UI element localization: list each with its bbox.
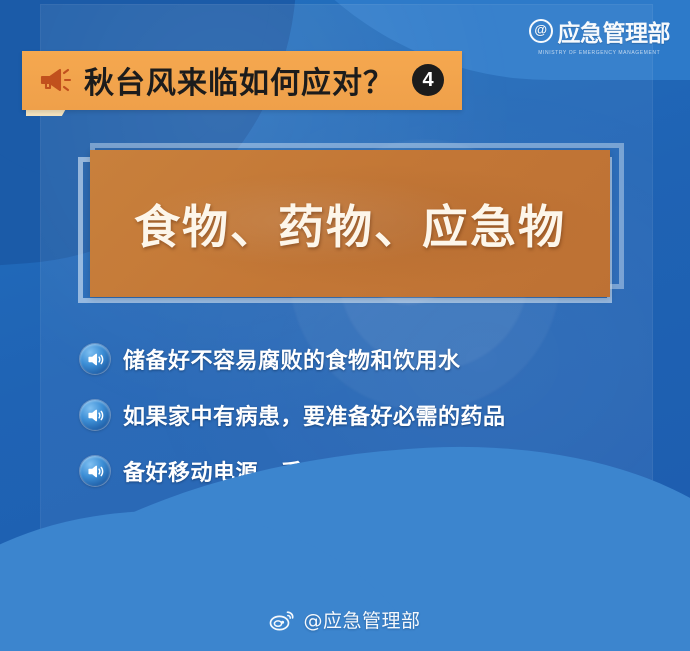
poster-root: @ 应急管理部 MINISTRY OF EMERGENCY MANAGEMENT… [0,0,690,651]
at-circle-icon: @ [529,19,553,43]
headline-banner: 食物、药物、应急物 [90,150,610,297]
speaker-icon [80,344,110,374]
title-bar: 秋台风来临如何应对？ 4 [22,51,462,110]
weibo-icon [269,609,295,631]
list-item-label: 储备好不容易腐败的食物和饮用水 [123,343,461,375]
brand-logo: @ 应急管理部 MINISTRY OF EMERGENCY MANAGEMENT [529,14,671,56]
section-number-badge: 4 [412,64,444,96]
page-title: 秋台风来临如何应对？ [84,58,394,102]
list-item: 储备好不容易腐败的食物和饮用水 [80,343,620,375]
megaphone-icon [38,66,72,94]
list-item-label: 如果家中有病患，要准备好必需的药品 [123,399,506,431]
headline-banner-zone: 食物、药物、应急物 [78,143,624,311]
title-bar-wrapper: 秋台风来临如何应对？ 4 [22,51,462,110]
speaker-icon [80,400,110,430]
brand-logo-subtitle: MINISTRY OF EMERGENCY MANAGEMENT [529,50,671,56]
headline-banner-text: 食物、药物、应急物 [134,191,566,257]
footer: @应急管理部 [0,606,690,633]
list-item: 如果家中有病患，要准备好必需的药品 [80,399,620,431]
speaker-icon [80,456,110,486]
brand-logo-main: @ 应急管理部 [529,14,671,48]
footer-handle: @应急管理部 [303,606,420,633]
brand-logo-name: 应急管理部 [558,14,671,48]
